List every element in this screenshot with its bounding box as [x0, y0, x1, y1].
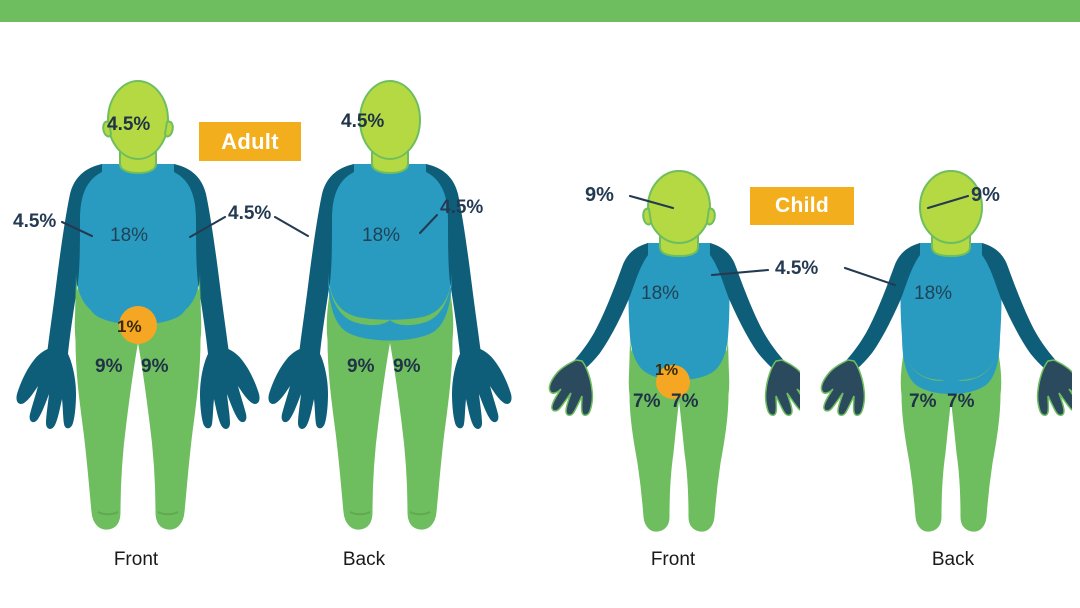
adult-front-ear-right	[165, 122, 173, 137]
adult-front-hand-right	[200, 346, 260, 429]
view-label-child-front: Front	[625, 550, 721, 569]
label-child-arm-middle: 4.5%	[775, 259, 818, 278]
label-adult-back-arm-right: 4.5%	[440, 198, 483, 217]
view-label-adult-front: Front	[88, 550, 184, 569]
label-child-front-torso: 18%	[641, 284, 679, 303]
label-child-back-head: 9%	[971, 185, 1000, 205]
label-adult-front-leg-left: 9%	[95, 357, 122, 376]
label-adult-front-groin: 1%	[117, 318, 142, 335]
child-back-hand-left	[821, 360, 864, 415]
child-back-figure	[820, 165, 1072, 555]
burn-chart-page: 4.5% 18% 4.5% 4.5% 1% 9% 9% Front 4.5% 1…	[0, 0, 1080, 608]
label-child-front-leg-left: 7%	[633, 392, 660, 411]
label-adult-front-torso: 18%	[110, 226, 148, 245]
label-adult-back-torso: 18%	[362, 226, 400, 245]
label-child-back-leg-left: 7%	[909, 392, 936, 411]
group-badge-child: Child	[750, 187, 854, 225]
adult-front-hand-left	[16, 346, 76, 429]
adult-back-figure	[262, 72, 522, 542]
label-child-front-groin: 1%	[655, 363, 678, 379]
group-badge-adult: Adult	[199, 122, 301, 161]
top-accent-bar	[0, 0, 1080, 22]
adult-back-hand-right	[452, 346, 512, 429]
child-front-hand-right	[766, 360, 800, 415]
child-back-torso	[901, 243, 1002, 380]
child-back-hand-right	[1038, 360, 1072, 415]
child-front-hand-left	[549, 360, 592, 415]
child-back-head	[920, 171, 982, 243]
label-adult-back-head: 4.5%	[341, 112, 384, 131]
label-adult-front-head: 4.5%	[107, 115, 150, 134]
label-adult-back-leg-left: 9%	[347, 357, 374, 376]
label-child-front-leg-right: 7%	[671, 392, 698, 411]
label-child-front-head: 9%	[585, 185, 614, 205]
label-child-back-torso: 18%	[914, 284, 952, 303]
child-front-torso	[629, 243, 730, 380]
view-label-adult-back: Back	[316, 550, 412, 569]
child-front-ear-right	[707, 209, 715, 225]
child-front-ear-left	[643, 209, 651, 225]
label-adult-front-leg-right: 9%	[141, 357, 168, 376]
label-child-back-leg-right: 7%	[947, 392, 974, 411]
adult-back-hand-left	[268, 346, 328, 429]
label-adult-arm-middle: 4.5%	[228, 204, 271, 223]
label-adult-front-arm-left: 4.5%	[13, 212, 56, 231]
label-adult-back-leg-right: 9%	[393, 357, 420, 376]
view-label-child-back: Back	[905, 550, 1001, 569]
child-front-head	[648, 171, 710, 243]
